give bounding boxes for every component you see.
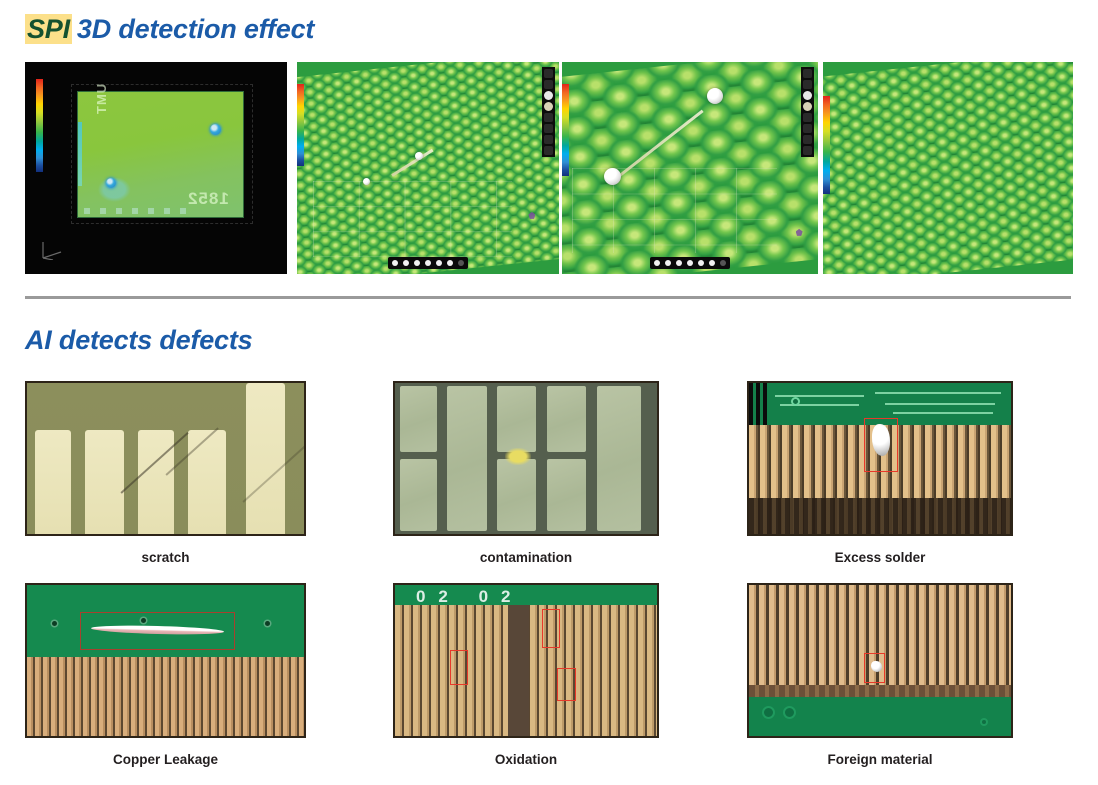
- spi-solder-bump-array: [297, 62, 559, 274]
- shape-icon[interactable]: [803, 80, 812, 89]
- pcb-trace: [893, 412, 993, 414]
- defect-image-foreign-material: [747, 583, 1013, 738]
- solder-pad: [447, 386, 486, 531]
- detection-box: [864, 418, 898, 472]
- toolbar-dot-2[interactable]: [403, 260, 409, 266]
- spi-title-text: 3D detection effect: [77, 14, 314, 44]
- height-colorbar: [823, 96, 830, 194]
- pcb-trace: [875, 392, 1001, 394]
- defect-cell-copper-leakage[interactable]: Copper Leakage: [25, 583, 306, 767]
- pcb-pad-ring: [980, 718, 988, 726]
- defect-image-scratch: [25, 381, 306, 536]
- solder-pad: [497, 459, 536, 531]
- cube-icon[interactable]: [544, 124, 553, 133]
- solder-pad: [138, 430, 174, 534]
- spi-scan-board-overview: TMU 1852: [25, 62, 287, 274]
- detection-box: [542, 609, 560, 648]
- measurement-marker[interactable]: [363, 178, 370, 185]
- finger-shadow-band: [749, 685, 1011, 697]
- defect-label: Oxidation: [393, 752, 659, 767]
- height-colorbar: [297, 84, 304, 166]
- defect-label: Copper Leakage: [25, 752, 306, 767]
- pcb-trace: [885, 403, 995, 405]
- defect-cell-excess-solder[interactable]: Excess solder: [747, 381, 1013, 565]
- measurement-marker[interactable]: [707, 88, 723, 104]
- spi-solder-bump-measure: [562, 62, 818, 274]
- page-title-ai: AI detects defects: [25, 325, 252, 356]
- toolbar-dot-6[interactable]: [709, 260, 715, 266]
- shaded-ball-icon[interactable]: [544, 102, 553, 111]
- solder-pad: [400, 459, 437, 531]
- pcb-height-map: TMU 1852: [77, 91, 244, 218]
- black-traces: [749, 383, 767, 425]
- toolbar-dot-3[interactable]: [414, 260, 420, 266]
- finger-shadow-band: [749, 498, 1011, 534]
- slide-page: SPI3D detection effect TMU 1852: [0, 0, 1098, 785]
- spi-image-row: TMU 1852: [25, 62, 1073, 274]
- height-colorbar: [36, 79, 43, 172]
- axis-orientation-icon: [39, 238, 65, 260]
- solder-pad: [35, 430, 71, 534]
- defect-cell-foreign-material[interactable]: Foreign material: [747, 583, 1013, 767]
- white-ball-icon[interactable]: [803, 91, 812, 100]
- solder-pad: [547, 459, 586, 531]
- defect-cell-oxidation[interactable]: 02 02 Oxidation: [393, 583, 659, 767]
- detection-box: [557, 668, 575, 701]
- layers-icon[interactable]: [803, 146, 812, 155]
- measurement-grid-overlay: [572, 168, 777, 253]
- toolbar-dot-5[interactable]: [698, 260, 704, 266]
- pcb-trace: [775, 395, 864, 397]
- pcb-pad-ring: [783, 706, 796, 719]
- solder-bump-field: [823, 62, 1073, 274]
- solder-pad: [597, 386, 642, 531]
- pcb-pad-ring: [762, 706, 775, 719]
- pcb-silkscreen-label: TMU: [94, 83, 109, 114]
- toolbar-dot-4[interactable]: [425, 260, 431, 266]
- solder-pad: [85, 430, 124, 534]
- defect-image-copper-leakage: [25, 583, 306, 738]
- defect-label: scratch: [25, 550, 306, 565]
- shape-icon[interactable]: [544, 80, 553, 89]
- measurement-marker[interactable]: [604, 168, 621, 185]
- solder-pad: [497, 386, 536, 452]
- toolbar-dot-7[interactable]: [720, 260, 726, 266]
- defect-label: Excess solder: [747, 550, 1013, 565]
- toolbar-dot-5[interactable]: [436, 260, 442, 266]
- toolbar-dot-3[interactable]: [676, 260, 682, 266]
- pcb-pad-ring: [791, 397, 800, 406]
- ai-title-text: AI detects defects: [25, 325, 252, 355]
- measurement-marker[interactable]: [415, 152, 423, 160]
- pcb-edge-highlight: [78, 122, 82, 186]
- ruler-icon[interactable]: [544, 135, 553, 144]
- pcb-silkscreen-number: 1852: [187, 189, 229, 209]
- spi-highlight-badge: SPI: [25, 14, 72, 44]
- defect-image-contamination: [393, 381, 659, 536]
- defect-label: Foreign material: [747, 752, 1013, 767]
- detection-box: [864, 653, 885, 683]
- layers-icon[interactable]: [544, 146, 553, 155]
- viewer-bottom-toolbar[interactable]: [388, 257, 468, 269]
- toolbar-dot-2[interactable]: [665, 260, 671, 266]
- finger-gap: [508, 605, 529, 736]
- via-hole: [106, 178, 116, 188]
- defect-cell-contamination[interactable]: contamination: [393, 381, 659, 565]
- detection-box: [80, 612, 235, 650]
- white-ball-icon[interactable]: [544, 91, 553, 100]
- height-colorbar: [562, 84, 569, 176]
- detection-box: [450, 650, 468, 685]
- grid-view-icon[interactable]: [544, 69, 553, 78]
- viewer-vertical-toolbar[interactable]: [542, 67, 555, 157]
- cube-icon[interactable]: [803, 124, 812, 133]
- solder-pad: [246, 383, 285, 534]
- contamination-spot: [505, 448, 531, 465]
- defect-cell-scratch[interactable]: scratch: [25, 381, 306, 565]
- toolbar-dot-7[interactable]: [458, 260, 464, 266]
- grid-view-icon[interactable]: [803, 69, 812, 78]
- colorbar-tick-labels: [45, 77, 71, 175]
- defect-image-oxidation: 02 02: [393, 583, 659, 738]
- solder-pad: [547, 386, 586, 452]
- toolbar-dot-6[interactable]: [447, 260, 453, 266]
- connector-fingers: [27, 657, 304, 736]
- sphere-outline-icon[interactable]: [544, 113, 553, 122]
- toolbar-dot-1[interactable]: [654, 260, 660, 266]
- page-title-spi: SPI3D detection effect: [25, 14, 314, 45]
- via-hole: [210, 124, 221, 135]
- spi-solder-bump-field: [823, 62, 1073, 274]
- measurement-grid-overlay: [313, 181, 512, 257]
- shaded-ball-icon[interactable]: [803, 102, 812, 111]
- ruler-icon[interactable]: [803, 135, 812, 144]
- viewer-vertical-toolbar[interactable]: [801, 67, 814, 157]
- pcb-edge-ticks: [84, 208, 194, 214]
- solder-pad: [188, 430, 227, 534]
- toolbar-dot-1[interactable]: [392, 260, 398, 266]
- defect-image-excess-solder: [747, 381, 1013, 536]
- section-divider: [25, 296, 1071, 299]
- viewer-bottom-toolbar[interactable]: [650, 257, 730, 269]
- defect-label: contamination: [393, 550, 659, 565]
- sphere-outline-icon[interactable]: [803, 113, 812, 122]
- solder-pad: [400, 386, 437, 452]
- toolbar-dot-4[interactable]: [687, 260, 693, 266]
